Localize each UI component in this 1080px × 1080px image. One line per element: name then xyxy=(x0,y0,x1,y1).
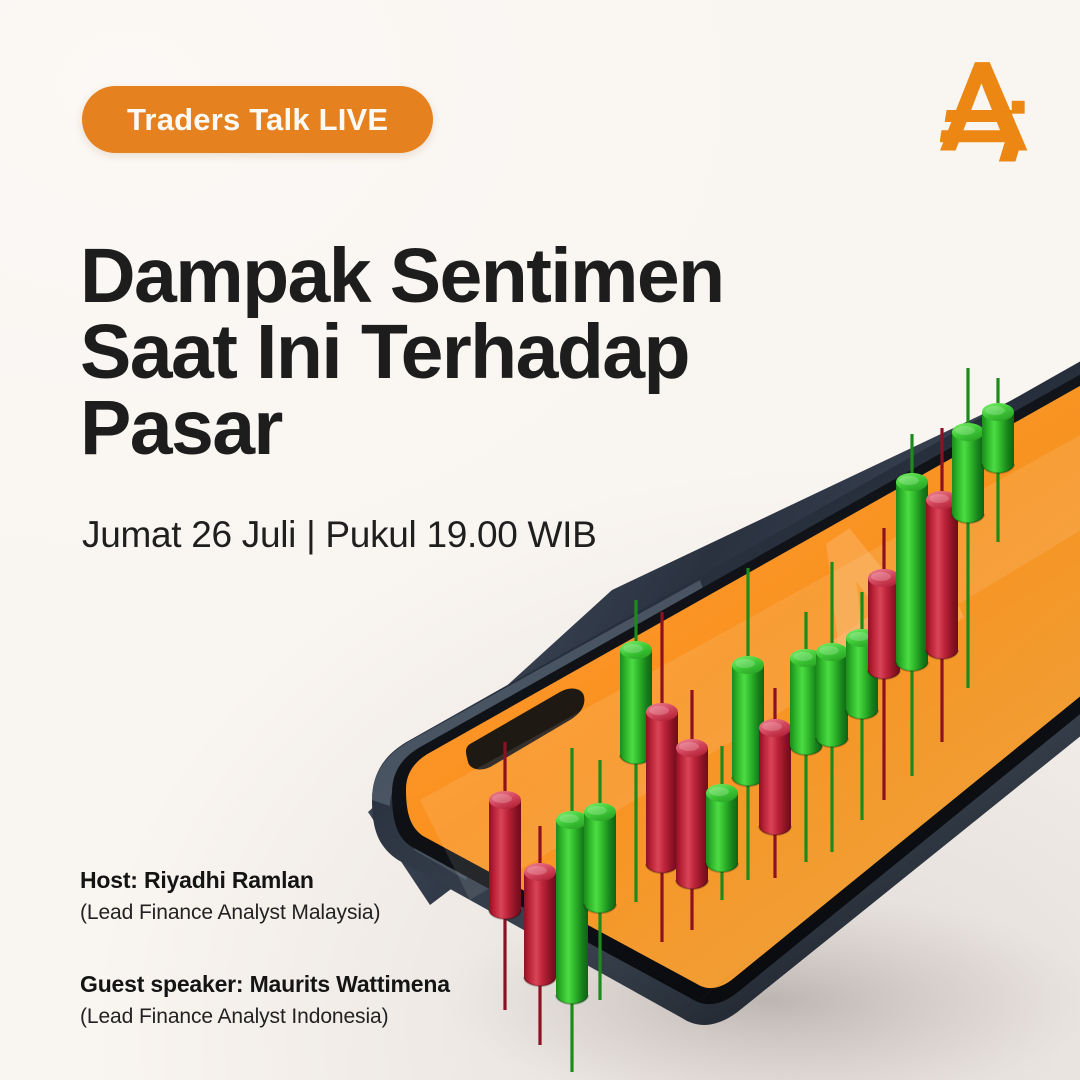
credit-guest: Guest speaker: Maurits Wattimena (Lead F… xyxy=(80,970,600,1030)
ascendex-a-logo-icon xyxy=(940,58,1032,162)
live-badge-label: Traders Talk LIVE xyxy=(127,102,388,138)
schedule-date: Jumat 26 Juli xyxy=(82,514,296,555)
credit-guest-role: (Lead Finance Analyst Indonesia) xyxy=(80,1003,600,1030)
credit-host-role: (Lead Finance Analyst Malaysia) xyxy=(80,899,600,926)
poster-canvas: Traders Talk LIVE Dampak Sentimen Saat I… xyxy=(0,0,1080,1080)
candle-14-bear xyxy=(868,528,900,800)
candle-16-bear xyxy=(926,428,958,742)
page-title: Dampak Sentimen Saat Ini Terhadap Pasar xyxy=(80,238,800,467)
candle-12-bull xyxy=(816,562,848,852)
schedule-line: Jumat 26 Juli|Pukul 19.00 WIB xyxy=(82,514,597,556)
credit-guest-name: Guest speaker: Maurits Wattimena xyxy=(80,970,600,999)
schedule-separator: | xyxy=(296,514,325,556)
headline-line-2: Saat Ini Terhadap xyxy=(80,314,800,390)
schedule-time: Pukul 19.00 WIB xyxy=(325,514,596,555)
candle-8-bull xyxy=(706,746,738,900)
headline-line-3: Pasar xyxy=(80,390,800,466)
candle-6-bear xyxy=(646,612,678,942)
candle-5-bull xyxy=(620,600,652,902)
candle-15-bull xyxy=(896,434,928,776)
credits-list: Host: Riyadhi Ramlan (Lead Finance Analy… xyxy=(80,866,600,1030)
candle-9-bull xyxy=(732,568,764,880)
candle-7-bear xyxy=(676,690,708,930)
headline-line-1: Dampak Sentimen xyxy=(80,238,800,314)
candle-18-bull xyxy=(982,378,1014,542)
candle-17-bull xyxy=(952,368,984,688)
credit-host-name: Host: Riyadhi Ramlan xyxy=(80,866,600,895)
live-badge[interactable]: Traders Talk LIVE xyxy=(82,86,433,153)
credit-host: Host: Riyadhi Ramlan (Lead Finance Analy… xyxy=(80,866,600,926)
candle-13-bull xyxy=(846,592,878,820)
candle-10-bear xyxy=(759,688,791,878)
candle-11-bull xyxy=(790,612,822,862)
